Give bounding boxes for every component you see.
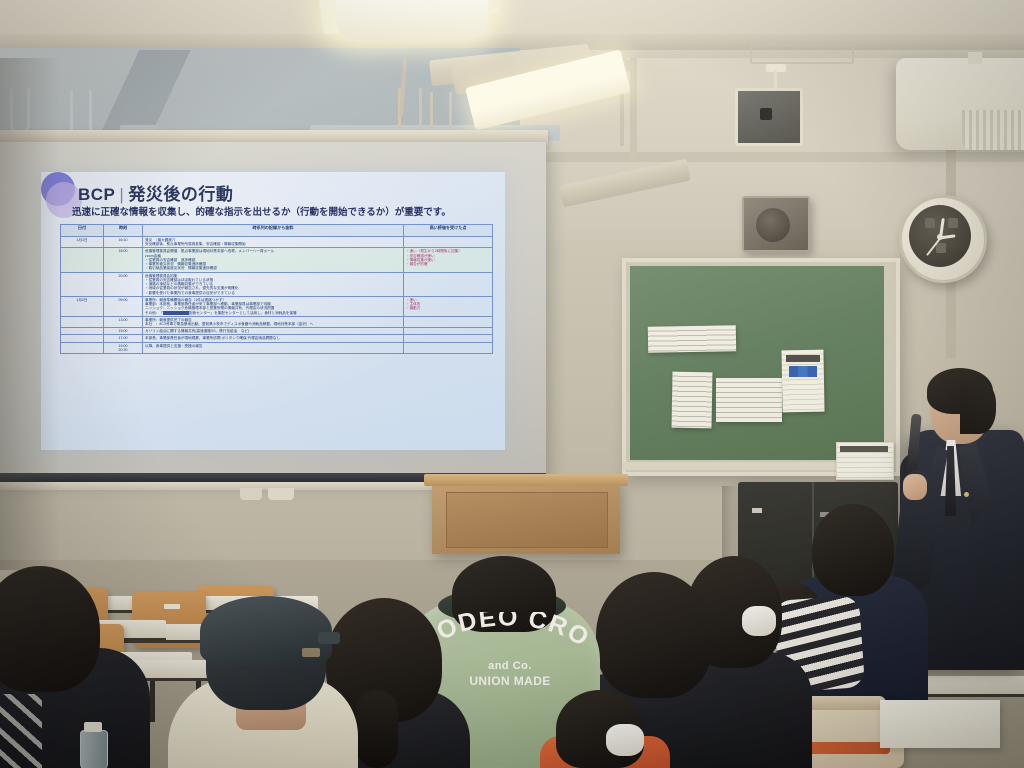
cell-time: 20:00	[104, 272, 143, 296]
lectern-top	[424, 474, 628, 486]
paper-stack	[880, 700, 1000, 748]
slide-title-main: BCP	[78, 185, 115, 204]
wall-notice-header	[840, 446, 888, 452]
table-row: 19:0020:30以降、食事提供と支援・受援の報告	[61, 342, 493, 353]
poster-header-bar	[786, 355, 820, 362]
cell-evaluation	[404, 272, 493, 296]
cell-evaluation: ・速い（発生から2時間後に招集）・安否確認が速い・情報収集が速い・報告が的確	[404, 248, 493, 272]
attendee-head	[596, 572, 712, 698]
water-bottle	[80, 730, 108, 768]
col-header-date: 日付	[61, 225, 104, 237]
cell-evaluation	[404, 328, 493, 335]
board-poster	[648, 325, 736, 353]
presenter-hand	[903, 474, 927, 500]
cell-time: 15:00	[104, 328, 143, 335]
air-conditioner-grill	[962, 110, 1024, 150]
cap-tag	[302, 648, 320, 657]
table-row: 20:00危機管理委員会招集・従業員の安否確認はほぼ取れている状態・道路の凍結な…	[61, 272, 493, 296]
slide-title-sub: 発災後の行動	[128, 185, 233, 204]
cell-record: 危機管理委員会開催 拠点事業部は現地対策本部へ改称、メンバーへ一斉メールzoom…	[143, 248, 404, 272]
cell-evaluation	[404, 316, 493, 327]
slide-title: BCP|発災後の行動	[78, 180, 378, 205]
cell-record: 事業所：朝食提供完了の報告本社 ：8C3号車で緊急基地出動、愛知県小牧市でディス…	[143, 316, 404, 327]
poster-blue-graphic	[789, 366, 817, 377]
cap-strap	[318, 632, 340, 644]
record-line: ・取引納品業者被災状況 情報収集進捗確認	[145, 266, 401, 270]
face-mask	[742, 606, 776, 636]
cell-date	[61, 316, 104, 327]
wall-seam	[630, 58, 637, 158]
slide-title-divider: |	[115, 185, 128, 204]
cabinet-handle[interactable]	[752, 508, 762, 513]
table-header-row: 日付 時刻 時系列の記録から抜粋 高い評価を受けた点	[61, 225, 493, 237]
cell-record: 発災 （最大震度7）安全確認後、拠点事業所所属員参集、安否確認・情報収集開始	[143, 237, 404, 248]
cell-date: 1月1日	[61, 237, 104, 248]
cell-record: 本部長、事業部責任者が現地視察、事業所訪問 ポリタンク確保 代理店納品問題なし	[143, 335, 404, 342]
cell-time: 13:00	[104, 316, 143, 327]
bottle-cap	[84, 722, 102, 732]
cell-record: 事業所：朝食準備開始の報告（1件は連絡つかず）事業部：本部長、事業部責任者が来て…	[143, 296, 404, 316]
presenter-lapel-pin	[964, 492, 969, 497]
speaker-logo-icon	[760, 108, 772, 120]
board-poster	[716, 378, 782, 422]
cell-date	[61, 248, 104, 272]
cell-evaluation	[404, 335, 493, 342]
record-line: 安全確認後、拠点事業所所属員参集、安否確認・情報収集開始	[145, 242, 401, 246]
bcp-timeline-table: 日付 時刻 時系列の記録から抜粋 高い評価を受けた点 1月1日16:10発災 （…	[60, 224, 493, 354]
jacket-text-line-1: and Co.	[440, 660, 580, 672]
record-line: その他：「配食センター」を集配センターとして活用し、食材と消耗品を保管	[145, 311, 401, 315]
record-line: 本部長、事業部責任者が現地視察、事業所訪問 ポリタンク確保 代理店納品問題なし	[145, 336, 401, 340]
cell-record: 以降、食事提供と支援・受援の報告	[143, 342, 404, 353]
cell-time: 17:00	[104, 335, 143, 342]
classroom-lecture-photo: 121234567891011 BCP|発災後の行動 迅速に正確な情報を収集し、…	[0, 0, 1024, 768]
presenter-hair-side	[960, 382, 996, 434]
cell-date	[61, 342, 104, 353]
cell-evaluation	[404, 342, 493, 353]
cell-date	[61, 272, 104, 296]
table-row: 1月1日16:10発災 （最大震度7）安全確認後、拠点事業所所属員参集、安否確認…	[61, 237, 493, 248]
table-row: 13:00事業所：朝食提供完了の報告本社 ：8C3号車で緊急基地出動、愛知県小牧…	[61, 316, 493, 327]
face-mask	[606, 724, 644, 756]
cell-time: 09:00	[104, 296, 143, 316]
jacket-arc-text: RODEO CROWNS	[418, 612, 592, 664]
cell-date: 1月2日	[61, 296, 104, 316]
attendee-pattern	[0, 694, 42, 768]
screen-pull-handle[interactable]	[240, 488, 262, 500]
chalkboard	[630, 266, 884, 460]
screen-pull-handle[interactable]	[268, 488, 294, 500]
cell-date	[61, 328, 104, 335]
record-line: 本社 ：8C3号車で緊急基地出動、愛知県小牧市でディスポ食器や消耗品積載、現地対…	[145, 322, 401, 326]
board-poster	[672, 372, 713, 429]
clock-marker	[936, 243, 946, 253]
cell-evaluation	[404, 237, 493, 248]
record-line: ・影響を受けた事業所での食事提供の目安ができている	[145, 291, 401, 295]
attendee-head	[812, 504, 894, 596]
wall-shadow	[0, 58, 60, 570]
air-conditioner-mount	[968, 52, 982, 64]
cell-time: 18:00	[104, 248, 143, 272]
col-header-time: 時刻	[104, 225, 143, 237]
evaluation-line: ・報告が的確	[406, 262, 490, 266]
cell-time: 16:10	[104, 237, 143, 248]
cell-record: 危機管理委員会招集・従業員の安否確認はほぼ取れている状態・道路の凍結などの情報収…	[143, 272, 404, 296]
svg-text:RODEO CROWNS: RODEO CROWNS	[418, 612, 592, 657]
ceiling-vent	[750, 44, 854, 64]
cell-record: ガソリン給油に関する情報共有(高速道路SS、携行缶給油 など)	[143, 328, 404, 335]
attendee-ponytail	[356, 690, 398, 768]
clock-marker	[925, 218, 935, 228]
table-row: 17:00本部長、事業部責任者が現地視察、事業所訪問 ポリタンク確保 代理店納品…	[61, 335, 493, 342]
chair-label-tag	[164, 604, 180, 609]
table-row: 18:00危機管理委員会開催 拠点事業部は現地対策本部へ改称、メンバーへ一斉メー…	[61, 248, 493, 272]
col-header-evaluation: 高い評価を受けた点	[404, 225, 493, 237]
col-header-record: 時系列の記録から抜粋	[143, 225, 404, 237]
cell-time: 19:0020:30	[104, 342, 143, 353]
speaker-cone-icon	[756, 208, 790, 242]
jacket-text-line-2: UNION MADE	[440, 674, 580, 688]
table-row: 1月2日09:00事業所：朝食準備開始の報告（1件は連絡つかず）事業部：本部長、…	[61, 296, 493, 316]
evaluation-line: ・機動力	[406, 306, 490, 310]
lectern-panel	[446, 492, 608, 548]
clock-center-pin	[937, 234, 943, 240]
table-row: 15:00ガソリン給油に関する情報共有(高速道路SS、携行缶給油 など)	[61, 328, 493, 335]
cell-date	[61, 335, 104, 342]
cell-evaluation: ・速い・主体的・機動力	[404, 296, 493, 316]
clock-marker	[948, 218, 958, 228]
record-line: ガソリン給油に関する情報共有(高速道路SS、携行缶給油 など)	[145, 329, 401, 333]
record-line: 以降、食事提供と支援・受援の報告	[145, 344, 401, 348]
slide-subtitle: 迅速に正確な情報を収集し、的確な指示を出せるか（行動を開始できるか）が重要です。	[72, 204, 492, 218]
fluorescent-light-glow	[336, 0, 488, 40]
